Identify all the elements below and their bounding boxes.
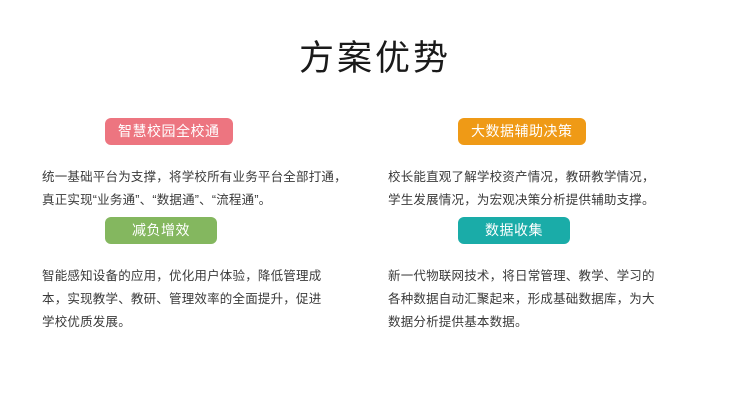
slide-canvas: 方案优势 智慧校园全校通 统一基础平台为支撑，将学校所有业务平台全部打通， 真正… <box>0 0 750 409</box>
description-line: 各种数据自动汇聚起来，形成基础数据库，为大 <box>388 288 688 311</box>
description-line: 统一基础平台为支撑，将学校所有业务平台全部打通， <box>42 166 342 189</box>
badge-big-data-decision[interactable]: 大数据辅助决策 <box>458 118 586 145</box>
advantage-description-smart-campus: 统一基础平台为支撑，将学校所有业务平台全部打通， 真正实现“业务通”、“数据通”… <box>42 166 342 212</box>
advantages-row-2: 减负增效 智能感知设备的应用，优化用户体验，降低管理成 本，实现教学、教研、管理… <box>0 217 750 334</box>
description-line: 智能感知设备的应用，优化用户体验，降低管理成 <box>42 265 342 288</box>
description-line: 校长能直观了解学校资产情况，教研教学情况， <box>388 166 688 189</box>
badge-container: 智慧校园全校通 <box>42 118 355 166</box>
description-line: 真正实现“业务通”、“数据通”、“流程通”。 <box>42 189 342 212</box>
advantage-description-efficiency: 智能感知设备的应用，优化用户体验，降低管理成 本，实现教学、教研、管理效率的全面… <box>42 265 342 334</box>
description-line: 学校优质发展。 <box>42 311 342 334</box>
description-line: 数据分析提供基本数据。 <box>388 311 688 334</box>
badge-container: 数据收集 <box>388 217 710 265</box>
advantages-row-1: 智慧校园全校通 统一基础平台为支撑，将学校所有业务平台全部打通， 真正实现“业务… <box>0 118 750 212</box>
badge-container: 减负增效 <box>42 217 355 265</box>
page-title: 方案优势 <box>0 36 750 82</box>
badge-smart-campus[interactable]: 智慧校园全校通 <box>105 118 233 145</box>
advantage-card-smart-campus: 智慧校园全校通 统一基础平台为支撑，将学校所有业务平台全部打通， 真正实现“业务… <box>0 118 355 212</box>
advantage-card-efficiency: 减负增效 智能感知设备的应用，优化用户体验，降低管理成 本，实现教学、教研、管理… <box>0 217 355 334</box>
advantage-card-big-data-decision: 大数据辅助决策 校长能直观了解学校资产情况，教研教学情况， 学生发展情况，为宏观… <box>355 118 710 212</box>
advantage-card-data-collection: 数据收集 新一代物联网技术，将日常管理、教学、学习的 各种数据自动汇聚起来，形成… <box>355 217 710 334</box>
advantages-grid: 智慧校园全校通 统一基础平台为支撑，将学校所有业务平台全部打通， 真正实现“业务… <box>0 118 750 334</box>
badge-container: 大数据辅助决策 <box>388 118 710 166</box>
advantage-description-big-data-decision: 校长能直观了解学校资产情况，教研教学情况， 学生发展情况，为宏观决策分析提供辅助… <box>388 166 688 212</box>
badge-data-collection[interactable]: 数据收集 <box>458 217 570 244</box>
description-line: 学生发展情况，为宏观决策分析提供辅助支撑。 <box>388 189 688 212</box>
badge-efficiency[interactable]: 减负增效 <box>105 217 217 244</box>
description-line: 本，实现教学、教研、管理效率的全面提升，促进 <box>42 288 342 311</box>
advantage-description-data-collection: 新一代物联网技术，将日常管理、教学、学习的 各种数据自动汇聚起来，形成基础数据库… <box>388 265 688 334</box>
description-line: 新一代物联网技术，将日常管理、教学、学习的 <box>388 265 688 288</box>
